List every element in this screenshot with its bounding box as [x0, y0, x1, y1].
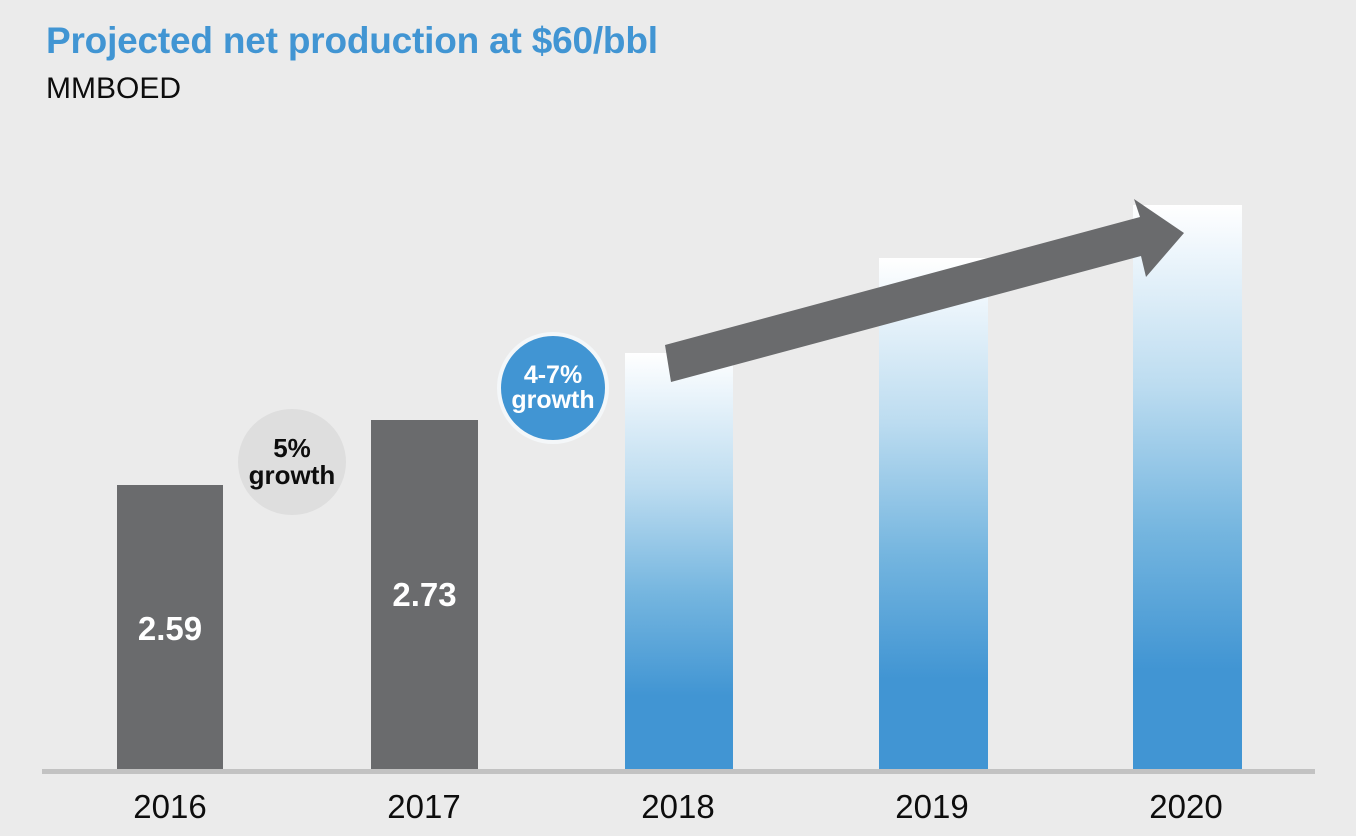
x-axis-label-2019: 2019 — [852, 788, 1012, 826]
x-axis-line — [42, 769, 1315, 774]
growth-badge-historical-label: growth — [249, 462, 336, 489]
growth-badge-projected: 4-7% growth — [497, 332, 609, 444]
slide-canvas: Projected net production at $60/bbl MMBO… — [0, 0, 1356, 836]
bar-2017: 2.73 — [371, 420, 478, 771]
growth-badge-projected-value: 4-7% — [524, 363, 582, 389]
bar-2019 — [879, 258, 988, 771]
x-axis-label-2017: 2017 — [344, 788, 504, 826]
growth-badge-projected-label: growth — [511, 388, 594, 414]
bar-value-2017: 2.73 — [371, 576, 478, 614]
bar-chart: 2.59 2.73 5% growth 4-7% growth 2016 — [0, 0, 1356, 836]
growth-badge-historical: 5% growth — [238, 409, 346, 515]
x-axis-label-2016: 2016 — [90, 788, 250, 826]
x-axis-label-2018: 2018 — [598, 788, 758, 826]
x-axis-label-2020: 2020 — [1106, 788, 1266, 826]
bar-2020 — [1133, 205, 1242, 771]
bar-value-2016: 2.59 — [117, 610, 223, 648]
bar-2018 — [625, 353, 733, 771]
growth-badge-historical-value: 5% — [273, 435, 311, 462]
bar-2016: 2.59 — [117, 485, 223, 771]
